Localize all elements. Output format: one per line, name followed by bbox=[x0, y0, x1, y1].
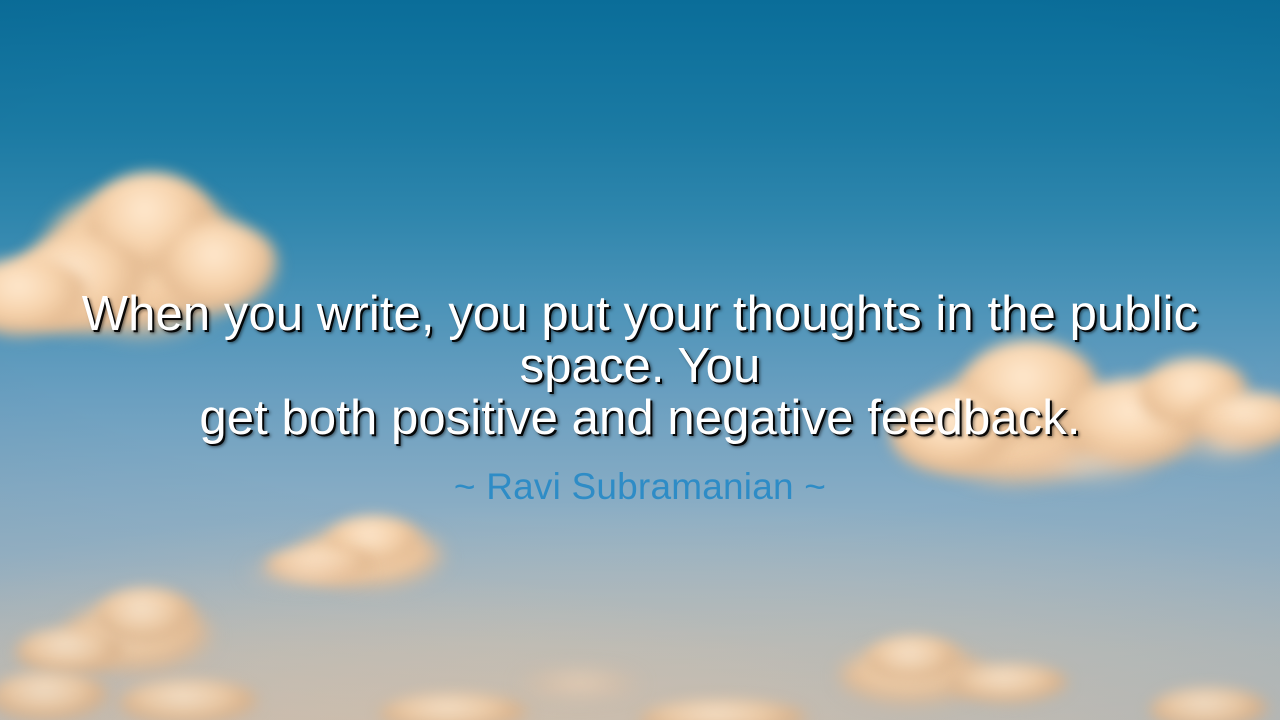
quote-block: When you write, you put your thoughts in… bbox=[0, 288, 1280, 508]
quote-image: When you write, you put your thoughts in… bbox=[0, 0, 1280, 720]
quote-attribution: ~ Ravi Subramanian ~ bbox=[36, 466, 1244, 508]
quote-text: When you write, you put your thoughts in… bbox=[36, 288, 1244, 444]
